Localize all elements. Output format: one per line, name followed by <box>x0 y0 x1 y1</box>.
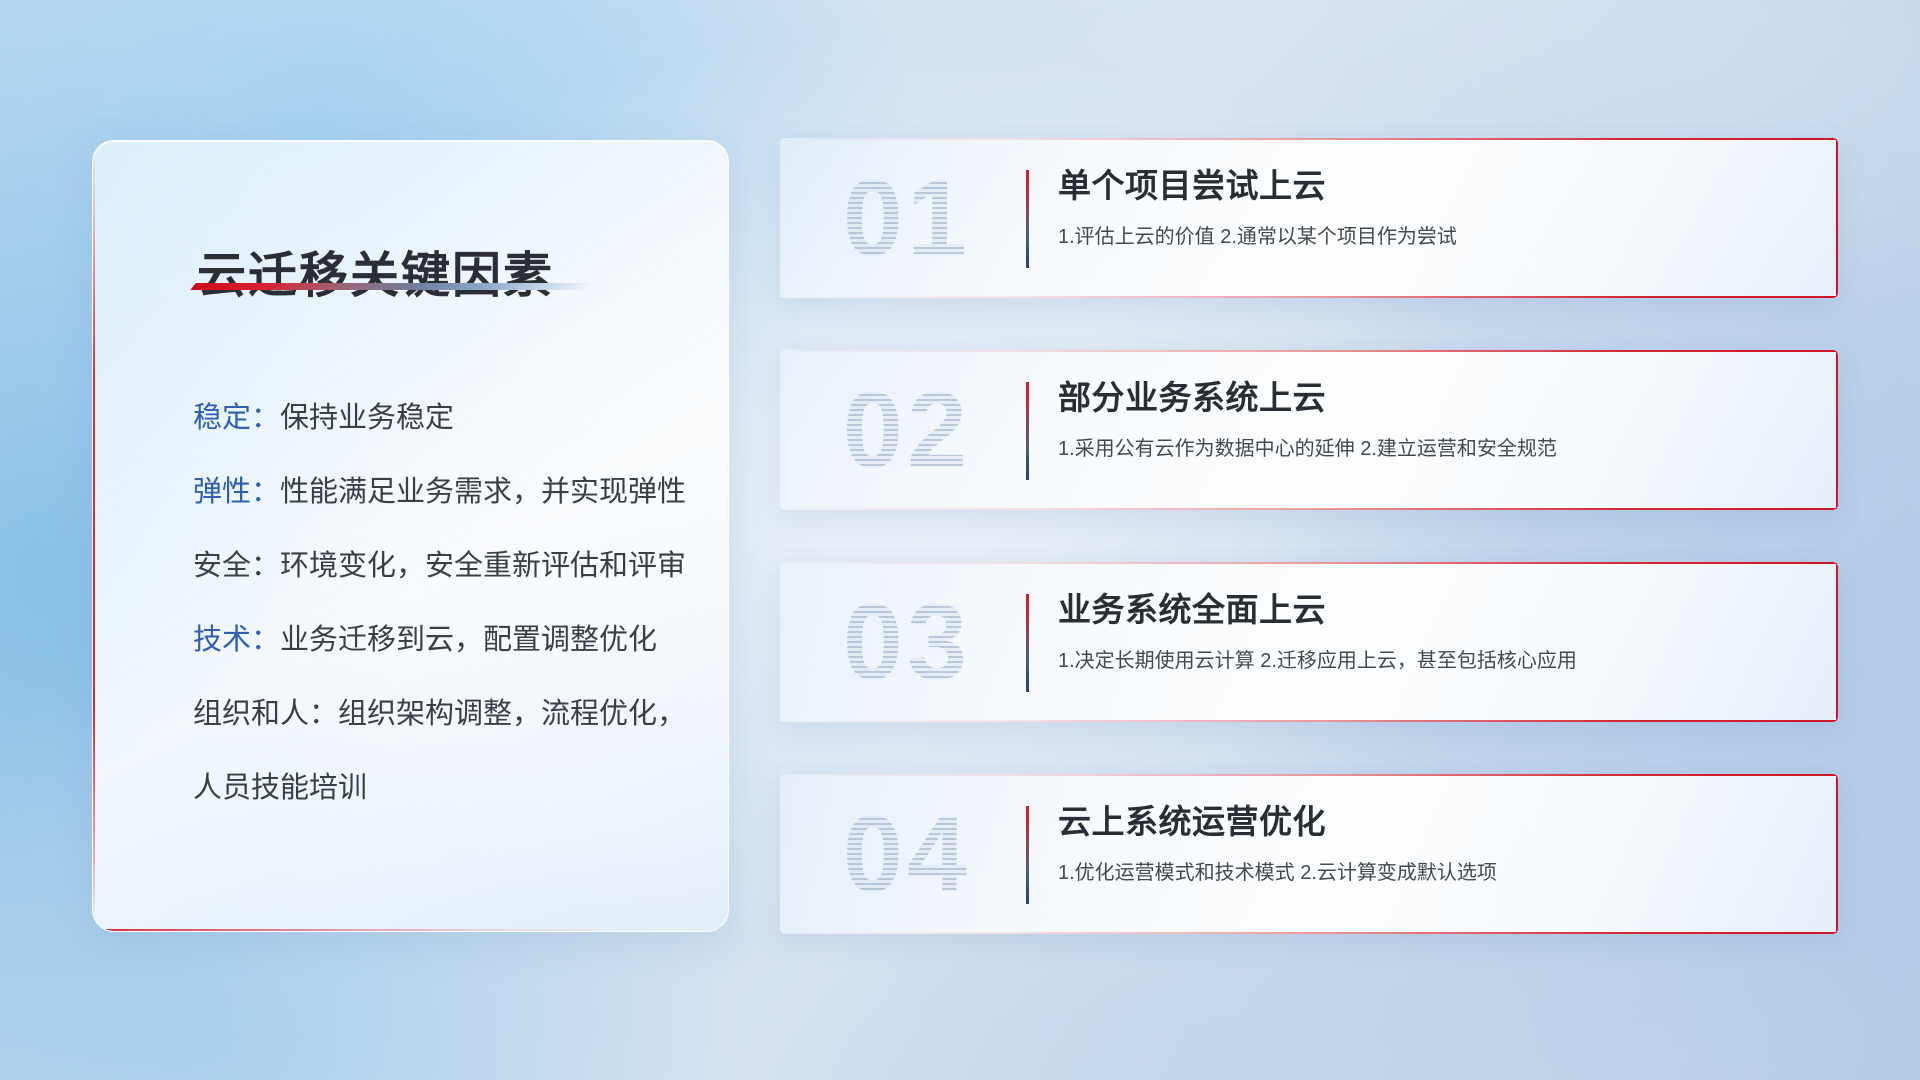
factor-row: 安全：环境变化，安全重新评估和评审 <box>193 529 688 603</box>
card-top-accent-line <box>780 562 1838 564</box>
card-bottom-accent-line <box>780 508 1838 510</box>
factor-list: 稳定：保持业务稳定弹性：性能满足业务需求，并实现弹性安全：环境变化，安全重新评估… <box>193 381 688 825</box>
factor-key: 安全： <box>193 550 280 582</box>
key-factors-panel: 云迁移关键因素 稳定：保持业务稳定弹性：性能满足业务需求，并实现弹性安全：环境变… <box>92 140 729 932</box>
card-top-accent-line <box>780 138 1838 140</box>
factor-row: 人员技能培训 <box>193 751 688 825</box>
stage-card-list: 0101单个项目尝试上云1.评估上云的价值 2.通常以某个项目作为尝试0202部… <box>780 138 1838 934</box>
factor-key: 弹性： <box>193 476 280 508</box>
card-text-block: 单个项目尝试上云1.评估上云的价值 2.通常以某个项目作为尝试 <box>1058 162 1808 252</box>
factor-key: 稳定： <box>193 402 280 434</box>
factor-key: 组织和人： <box>193 698 338 730</box>
card-text-block: 部分业务系统上云1.采用公有云作为数据中心的延伸 2.建立运营和安全规范 <box>1058 374 1808 464</box>
card-bottom-accent-line <box>780 296 1838 298</box>
factor-key: 技术： <box>193 624 280 656</box>
stage-card[interactable]: 0303业务系统全面上云1.决定长期使用云计算 2.迁移应用上云，甚至包括核心应… <box>780 562 1838 722</box>
card-right-accent-line <box>1836 562 1838 722</box>
card-number: 03 <box>812 576 1002 708</box>
card-title: 部分业务系统上云 <box>1058 374 1808 422</box>
stage-card[interactable]: 0101单个项目尝试上云1.评估上云的价值 2.通常以某个项目作为尝试 <box>780 138 1838 298</box>
card-bottom-accent-line <box>780 720 1838 722</box>
title-underline-accent <box>190 283 595 290</box>
card-description: 1.评估上云的价值 2.通常以某个项目作为尝试 <box>1058 222 1808 252</box>
panel-left-accent-line <box>93 141 95 931</box>
factor-value: 人员技能培训 <box>193 772 367 804</box>
page-title: 云迁移关键因素 <box>197 236 554 307</box>
card-top-accent-line <box>780 350 1838 352</box>
factor-value: 组织架构调整，流程优化， <box>338 698 686 730</box>
card-number: 02 <box>812 364 1002 496</box>
card-description: 1.采用公有云作为数据中心的延伸 2.建立运营和安全规范 <box>1058 434 1808 464</box>
card-description: 1.优化运营模式和技术模式 2.云计算变成默认选项 <box>1058 858 1808 888</box>
card-number: 04 <box>812 788 1002 920</box>
card-right-accent-line <box>1836 138 1838 298</box>
card-divider-bar <box>1026 806 1029 904</box>
card-description: 1.决定长期使用云计算 2.迁移应用上云，甚至包括核心应用 <box>1058 646 1808 676</box>
card-title: 云上系统运营优化 <box>1058 798 1808 846</box>
panel-bottom-accent-line <box>93 929 728 931</box>
card-divider-bar <box>1026 594 1029 692</box>
card-right-accent-line <box>1836 350 1838 510</box>
factor-value: 性能满足业务需求，并实现弹性 <box>280 476 686 508</box>
card-bottom-accent-line <box>780 932 1838 934</box>
stage-card[interactable]: 0404云上系统运营优化1.优化运营模式和技术模式 2.云计算变成默认选项 <box>780 774 1838 934</box>
card-text-block: 业务系统全面上云1.决定长期使用云计算 2.迁移应用上云，甚至包括核心应用 <box>1058 586 1808 676</box>
card-text-block: 云上系统运营优化1.优化运营模式和技术模式 2.云计算变成默认选项 <box>1058 798 1808 888</box>
factor-row: 稳定：保持业务稳定 <box>193 381 688 455</box>
card-right-accent-line <box>1836 774 1838 934</box>
card-divider-bar <box>1026 170 1029 268</box>
card-number: 01 <box>812 152 1002 284</box>
card-title: 单个项目尝试上云 <box>1058 162 1808 210</box>
factor-value: 保持业务稳定 <box>280 402 454 434</box>
card-top-accent-line <box>780 774 1838 776</box>
card-title: 业务系统全面上云 <box>1058 586 1808 634</box>
factor-value: 业务迁移到云，配置调整优化 <box>280 624 657 656</box>
factor-row: 弹性：性能满足业务需求，并实现弹性 <box>193 455 688 529</box>
factor-value: 环境变化，安全重新评估和评审 <box>280 550 686 582</box>
factor-row: 技术：业务迁移到云，配置调整优化 <box>193 603 688 677</box>
card-divider-bar <box>1026 382 1029 480</box>
stage-card[interactable]: 0202部分业务系统上云1.采用公有云作为数据中心的延伸 2.建立运营和安全规范 <box>780 350 1838 510</box>
factor-row: 组织和人：组织架构调整，流程优化， <box>193 677 688 751</box>
